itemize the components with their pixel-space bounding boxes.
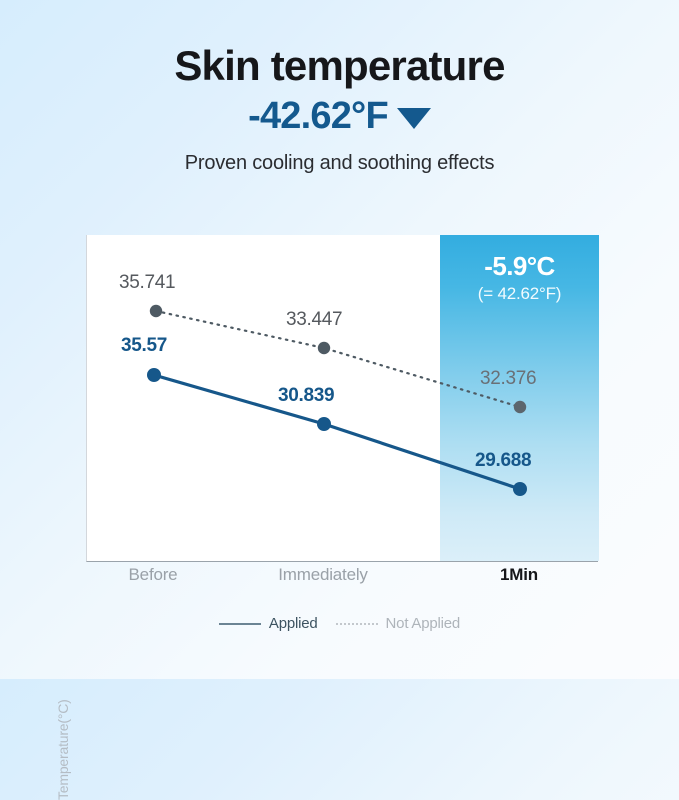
chart: Temperature(°C) -5.9°C (= 42.62°F) 35.74…: [0, 225, 679, 655]
page-title: Skin temperature: [0, 0, 679, 89]
applied-point-before: [147, 368, 161, 382]
triangle-down-icon: [397, 108, 431, 129]
x-label-before: Before: [73, 565, 233, 585]
applied-line: [154, 375, 520, 489]
plot-area: -5.9°C (= 42.62°F) 35.741 33.447 32.376 …: [86, 235, 598, 562]
x-label-immediately: Immediately: [243, 565, 403, 585]
x-label-1min: 1Min: [439, 565, 599, 585]
x-axis-labels: Before Immediately 1Min: [86, 565, 598, 595]
not-applied-point-before: [150, 305, 162, 317]
not-applied-point-1min: [514, 401, 526, 413]
legend-item-applied: Applied: [219, 615, 318, 632]
delta-value: -42.62°F: [248, 97, 388, 135]
dotted-line-icon: [336, 623, 378, 625]
skin-temperature-infographic: Skin temperature -42.62°F Proven cooling…: [0, 0, 679, 679]
y-axis-title-label: Temperature(°C): [55, 470, 71, 800]
y-axis-title: Temperature(°C): [55, 152, 77, 482]
legend: Applied Not Applied: [0, 615, 679, 632]
legend-label-not-applied: Not Applied: [386, 615, 461, 632]
subtitle: Proven cooling and soothing effects: [0, 135, 679, 175]
legend-item-not-applied: Not Applied: [336, 615, 461, 632]
not-applied-point-immediately: [318, 342, 330, 354]
delta-row: -42.62°F: [0, 97, 679, 135]
series-lines: [87, 235, 599, 562]
solid-line-icon: [219, 623, 261, 625]
legend-label-applied: Applied: [269, 615, 318, 632]
applied-point-1min: [513, 482, 527, 496]
applied-point-immediately: [317, 417, 331, 431]
header: Skin temperature -42.62°F Proven cooling…: [0, 0, 679, 175]
